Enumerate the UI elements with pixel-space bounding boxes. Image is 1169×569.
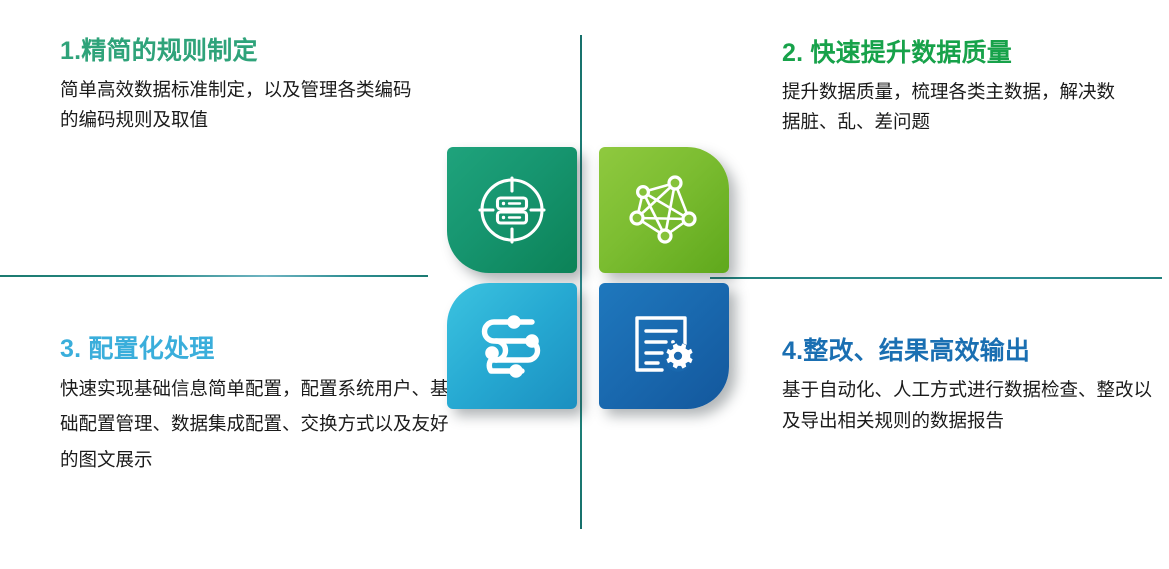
quadrant-4-title: 4.整改、结果高效输出 — [782, 336, 1152, 367]
tile-data-standard[interactable] — [447, 147, 577, 273]
network-graph-icon — [627, 173, 701, 247]
quadrant-3: 3. 配置化处理 快速实现基础信息简单配置，配置系统用户、基础配置管理、数据集成… — [60, 334, 450, 477]
quadrant-2-body: 提升数据质量，梳理各类主数据，解决数据脏、乱、差问题 — [782, 77, 1132, 137]
quadrant-4-body: 基于自动化、人工方式进行数据检查、整改以及导出相关规则的数据报告 — [782, 375, 1152, 436]
quadrant-2: 2. 快速提升数据质量 提升数据质量，梳理各类主数据，解决数据脏、乱、差问题 — [782, 38, 1132, 137]
target-database-icon — [476, 174, 548, 246]
horizontal-divider-right — [710, 277, 1162, 279]
quadrant-1-title: 1.精简的规则制定 — [60, 36, 420, 67]
quadrant-2-title: 2. 快速提升数据质量 — [782, 38, 1132, 69]
infographic-canvas: 1.精简的规则制定 简单高效数据标准制定，以及管理各类编码的编码规则及取值 2.… — [0, 0, 1169, 569]
document-gear-icon — [628, 310, 700, 382]
horizontal-divider-left — [0, 275, 428, 277]
tile-configuration[interactable] — [447, 283, 577, 409]
quadrant-1: 1.精简的规则制定 简单高效数据标准制定，以及管理各类编码的编码规则及取值 — [60, 36, 420, 135]
quadrant-3-body: 快速实现基础信息简单配置，配置系统用户、基础配置管理、数据集成配置、交换方式以及… — [60, 371, 450, 476]
quadrant-3-title: 3. 配置化处理 — [60, 334, 450, 365]
quadrant-1-body: 简单高效数据标准制定，以及管理各类编码的编码规则及取值 — [60, 75, 420, 135]
process-flow-icon — [474, 313, 550, 379]
center-tile-cluster — [447, 147, 729, 409]
quadrant-4: 4.整改、结果高效输出 基于自动化、人工方式进行数据检查、整改以及导出相关规则的… — [782, 336, 1152, 437]
tile-data-quality[interactable] — [599, 147, 729, 273]
tile-output-report[interactable] — [599, 283, 729, 409]
